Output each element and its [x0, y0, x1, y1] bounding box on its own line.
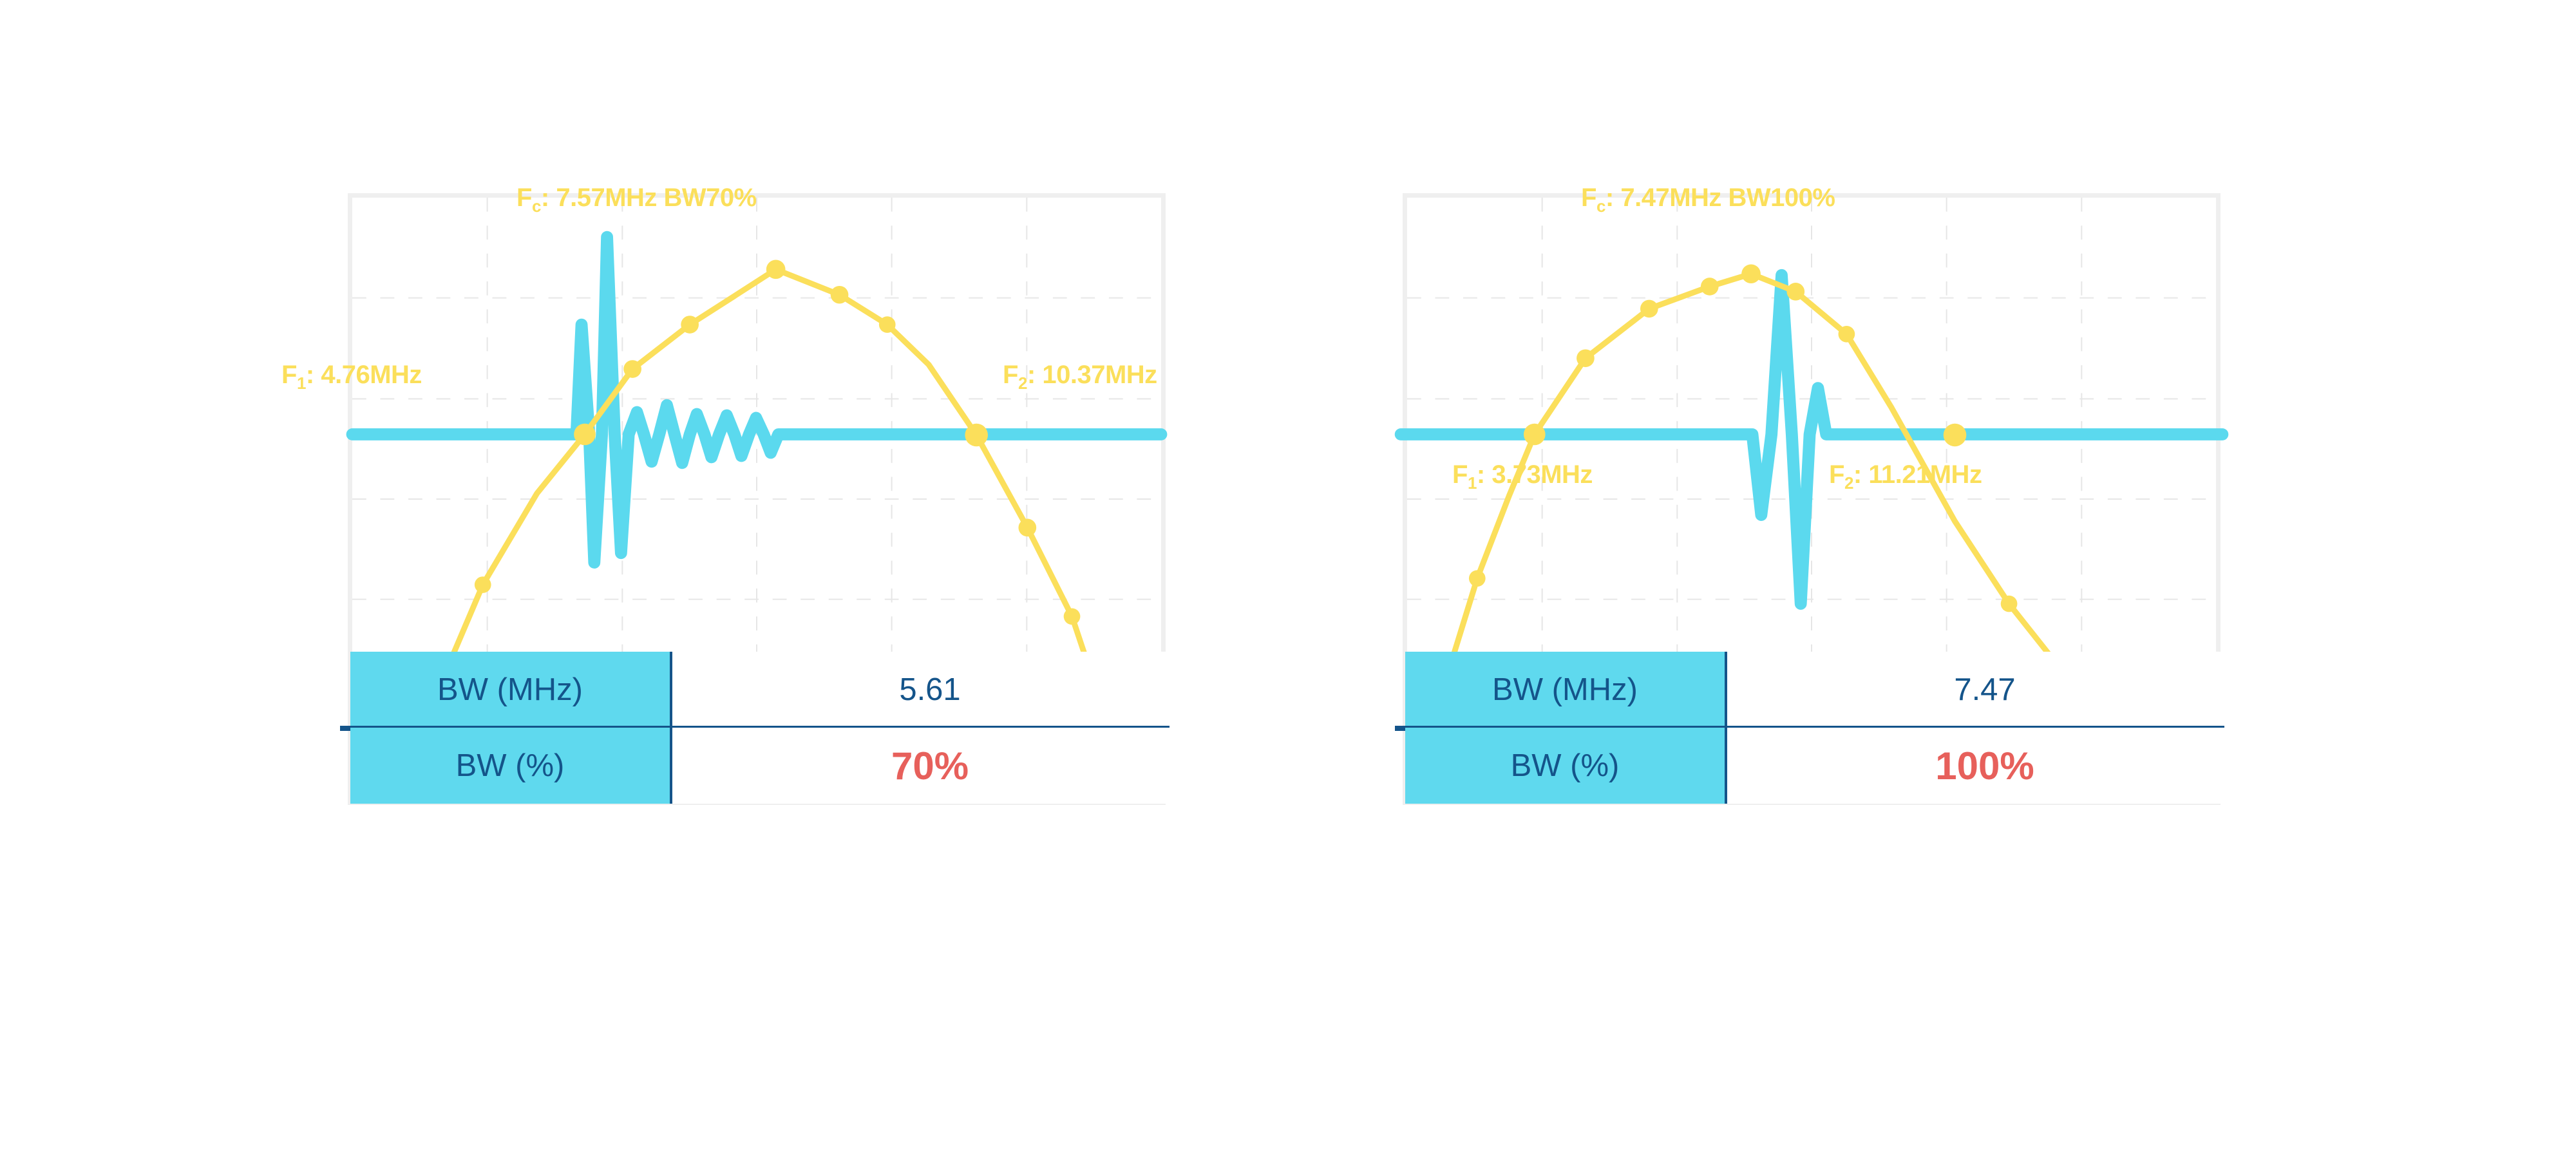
- right-bw-pct-cell: 100%: [1727, 728, 2242, 804]
- left-fc-text: : 7.57MHz BW70%: [541, 184, 757, 212]
- left-f2-annotation: F2: 10.37MHz: [1003, 361, 1157, 390]
- right-bw-table: BW (MHz) 7.47 BW (%) 100%: [1405, 652, 2242, 804]
- left-panel: Fc: 7.57MHz BW70% F1: 4.76MHz F2: 10.37M…: [348, 0, 1397, 1154]
- left-bw-mhz-cell: 5.61: [672, 652, 1188, 728]
- table-row: BW (%) 70%: [350, 728, 1188, 804]
- left-bw-mhz-value: 5.61: [899, 672, 960, 708]
- table-row: BW (%) 100%: [1405, 728, 2242, 804]
- right-f2-prefix: F: [1829, 460, 1844, 489]
- right-f2-text: : 11.21MHz: [1853, 460, 1982, 489]
- left-fc-prefix: F: [516, 184, 532, 212]
- left-f2-text: : 10.37MHz: [1027, 361, 1157, 389]
- right-bw-mhz-value: 7.47: [1954, 672, 2015, 708]
- right-f2-subscript: 2: [1844, 473, 1853, 493]
- comparison-panels: Fc: 7.57MHz BW70% F1: 4.76MHz F2: 10.37M…: [0, 0, 2576, 1154]
- left-fc-subscript: c: [532, 196, 541, 216]
- right-f1-prefix: F: [1452, 460, 1468, 489]
- left-f2-subscript: 2: [1018, 374, 1027, 393]
- right-panel: Fc: 7.47MHz BW100% F1: 3.73MHz F2: 11.21…: [1403, 0, 2452, 1154]
- right-fc-subscript: c: [1596, 196, 1605, 216]
- right-fc-annotation: Fc: 7.47MHz BW100%: [1581, 184, 1835, 213]
- right-f1-text: : 3.73MHz: [1477, 460, 1593, 489]
- pulse-waveform: [1401, 275, 2222, 603]
- left-bw-mhz-label: BW (MHz): [350, 652, 672, 728]
- right-f1-annotation: F1: 3.73MHz: [1452, 460, 1593, 489]
- left-f1-annotation: F1: 4.76MHz: [281, 361, 422, 390]
- right-bw-pct-value: 100%: [1935, 744, 2034, 788]
- left-f2-prefix: F: [1003, 361, 1018, 389]
- right-bw-mhz-label: BW (MHz): [1405, 652, 1727, 728]
- left-bw-table: BW (MHz) 5.61 BW (%) 70%: [350, 652, 1188, 804]
- left-bw-pct-value: 70%: [891, 744, 969, 788]
- table-row: BW (MHz) 7.47: [1405, 652, 2242, 728]
- right-f1-subscript: 1: [1468, 473, 1477, 493]
- left-f1-prefix: F: [281, 361, 297, 389]
- right-bw-pct-label: BW (%): [1405, 728, 1727, 804]
- table-row: BW (MHz) 5.61: [350, 652, 1188, 728]
- right-fc-prefix: F: [1581, 184, 1596, 212]
- left-bw-pct-cell: 70%: [672, 728, 1188, 804]
- right-fc-text: : 7.47MHz BW100%: [1605, 184, 1835, 212]
- left-fc-annotation: Fc: 7.57MHz BW70%: [516, 184, 757, 213]
- left-f1-subscript: 1: [297, 374, 306, 393]
- right-f2-annotation: F2: 11.21MHz: [1829, 460, 1982, 489]
- right-bw-mhz-cell: 7.47: [1727, 652, 2242, 728]
- left-bw-pct-label: BW (%): [350, 728, 672, 804]
- left-f1-text: : 4.76MHz: [306, 361, 422, 389]
